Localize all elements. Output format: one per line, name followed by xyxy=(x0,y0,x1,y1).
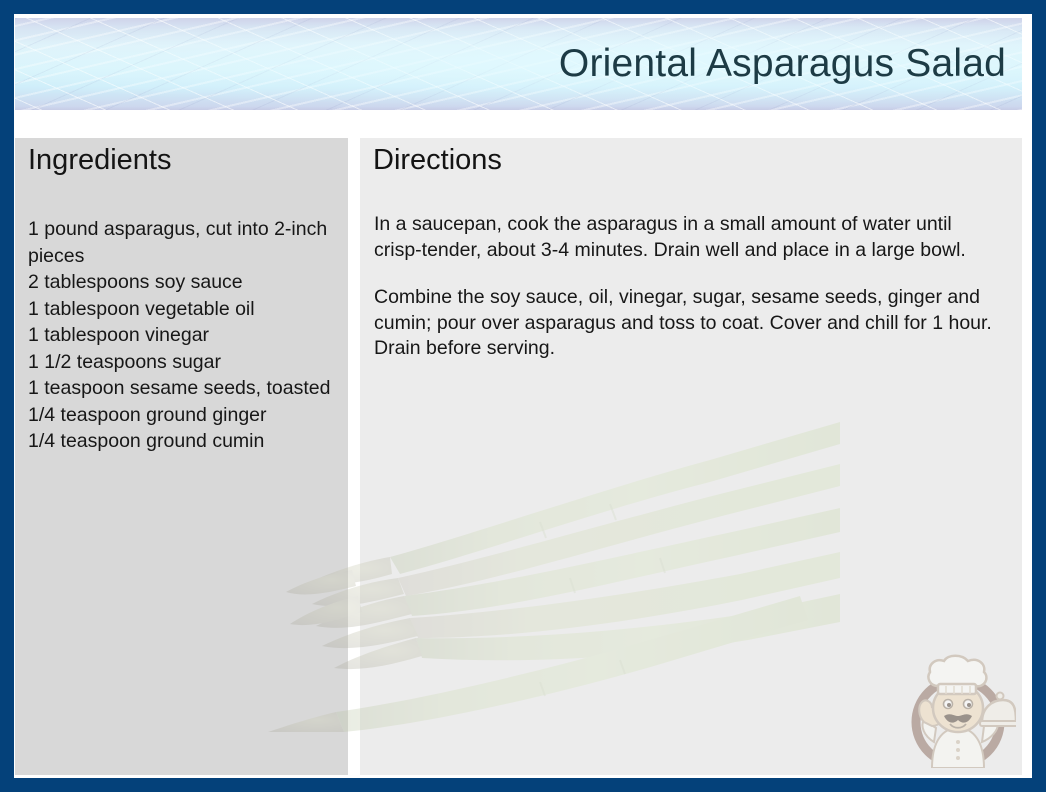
list-item: 1 teaspoon sesame seeds, toasted xyxy=(28,375,334,402)
direction-paragraph: In a saucepan, cook the asparagus in a s… xyxy=(374,212,1004,263)
list-item: 1 tablespoon vegetable oil xyxy=(28,296,334,323)
ingredients-panel: Ingredients 1 pound asparagus, cut into … xyxy=(15,138,348,775)
ingredients-body: 1 pound asparagus, cut into 2-inch piece… xyxy=(15,182,348,775)
list-item: 1/4 teaspoon ground cumin xyxy=(28,428,334,455)
title-banner: Oriental Asparagus Salad xyxy=(15,18,1022,110)
list-item: 1 1/2 teaspoons sugar xyxy=(28,349,334,376)
list-item: 1 pound asparagus, cut into 2-inch piece… xyxy=(28,216,334,269)
list-item: 1 tablespoon vinegar xyxy=(28,322,334,349)
ingredients-tab: Ingredients xyxy=(15,138,207,182)
list-item: 1/4 teaspoon ground ginger xyxy=(28,402,334,429)
ingredient-list: 1 pound asparagus, cut into 2-inch piece… xyxy=(28,216,334,455)
directions-panel: Directions In a saucepan, cook the aspar… xyxy=(360,138,1022,775)
direction-paragraph: Combine the soy sauce, oil, vinegar, sug… xyxy=(374,285,1004,362)
directions-heading: Directions xyxy=(373,146,502,175)
directions-tab: Directions xyxy=(360,138,522,182)
directions-body: In a saucepan, cook the asparagus in a s… xyxy=(360,182,1022,775)
page-title: Oriental Asparagus Salad xyxy=(559,42,1006,86)
recipe-card: Oriental Asparagus Salad Ingredients 1 p… xyxy=(0,0,1046,792)
list-item: 2 tablespoons soy sauce xyxy=(28,269,334,296)
ingredients-heading: Ingredients xyxy=(28,146,172,175)
content-area: Ingredients 1 pound asparagus, cut into … xyxy=(15,124,1022,775)
